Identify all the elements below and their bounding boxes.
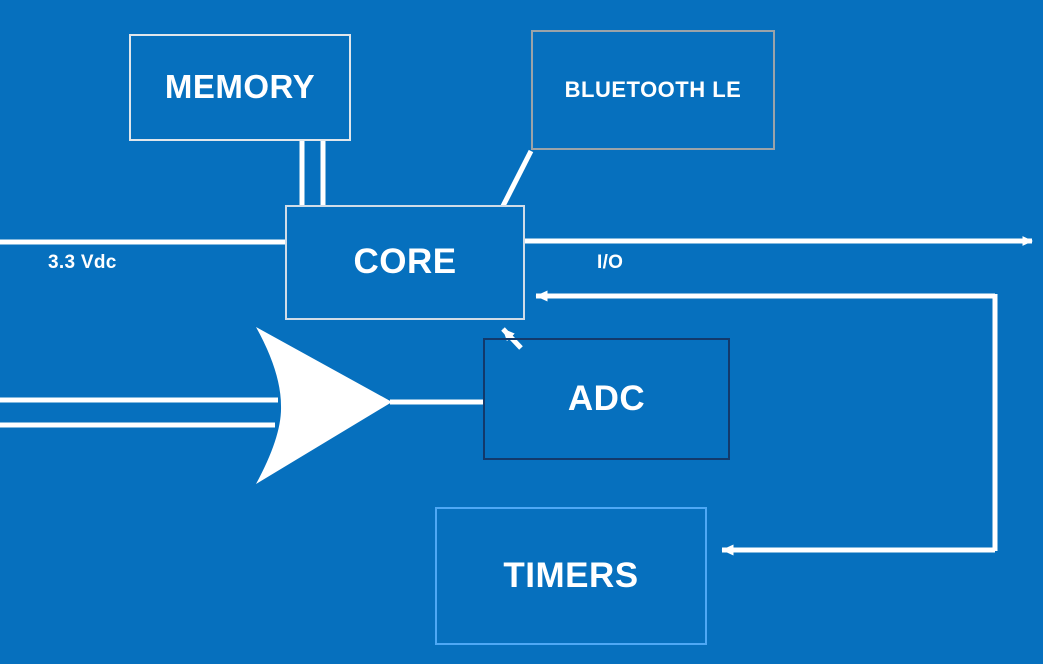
block-diagram-canvas: MEMORY BLUETOOTH LE CORE ADC TIMERS 3.3 … [0, 0, 1043, 664]
block-core-label: CORE [353, 243, 456, 282]
wire-label-io: I/O [597, 252, 623, 274]
block-core[interactable]: CORE [285, 205, 525, 320]
block-memory[interactable]: MEMORY [129, 34, 351, 141]
amplifier-triangle-icon [256, 327, 392, 484]
block-memory-label: MEMORY [165, 69, 315, 105]
block-adc-label: ADC [568, 380, 645, 419]
block-bluetooth-le-label: BLUETOOTH LE [565, 78, 742, 102]
block-bluetooth-le[interactable]: BLUETOOTH LE [531, 30, 775, 150]
block-adc[interactable]: ADC [483, 338, 730, 460]
block-timers[interactable]: TIMERS [435, 507, 707, 645]
wire-bluetooth-core [503, 151, 531, 206]
wire-label-power-supply: 3.3 Vdc [48, 252, 117, 274]
block-timers-label: TIMERS [503, 557, 638, 596]
